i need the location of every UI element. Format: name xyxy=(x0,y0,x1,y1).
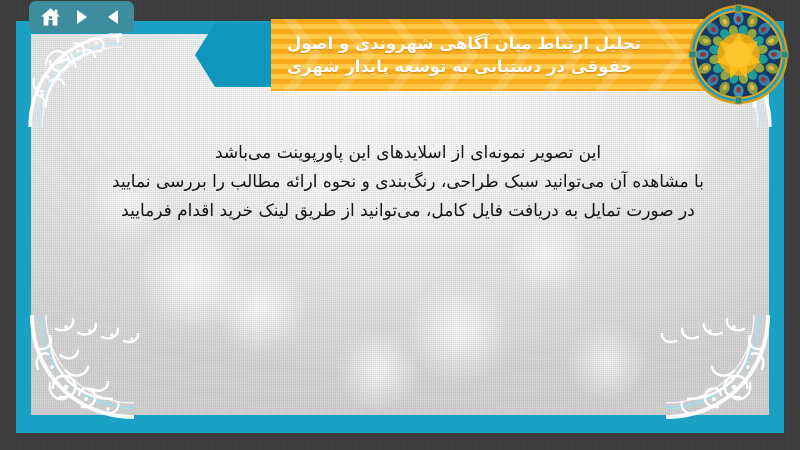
persian-medallion-icon xyxy=(688,4,789,105)
body-line: با مشاهده آن می‌توانید سبک طراحی، رنگ‌بن… xyxy=(56,168,760,197)
home-icon xyxy=(40,7,61,27)
body-line: این تصویر نمونه‌ای از اسلایدهای این پاور… xyxy=(56,139,760,168)
ribbon-tail-shape xyxy=(195,23,273,87)
slide-title-banner: تحلیل ارتباط میان آگاهی شهروندی و اصول ح… xyxy=(195,19,755,91)
triangle-right-icon xyxy=(73,8,91,26)
next-slide-button[interactable] xyxy=(69,5,95,29)
slide-navigation-bar xyxy=(29,1,134,33)
slide-body-text: این تصویر نمونه‌ای از اسلایدهای این پاور… xyxy=(56,139,760,227)
body-line: در صورت تمایل به دریافت فایل کامل، می‌تو… xyxy=(56,197,760,226)
ribbon-gold-body: تحلیل ارتباط میان آگاهی شهروندی و اصول ح… xyxy=(271,19,755,91)
slide-viewer: این تصویر نمونه‌ای از اسلایدهای این پاور… xyxy=(0,0,800,450)
slide-title-line: حقوقی در دستیابی به توسعه پایدار شهری xyxy=(287,55,632,78)
prev-slide-button[interactable] xyxy=(100,5,126,29)
triangle-left-icon xyxy=(104,8,122,26)
slide-title-line: تحلیل ارتباط میان آگاهی شهروندی و اصول xyxy=(287,32,641,55)
slide-title: تحلیل ارتباط میان آگاهی شهروندی و اصول ح… xyxy=(271,19,755,91)
home-button[interactable] xyxy=(38,5,64,29)
